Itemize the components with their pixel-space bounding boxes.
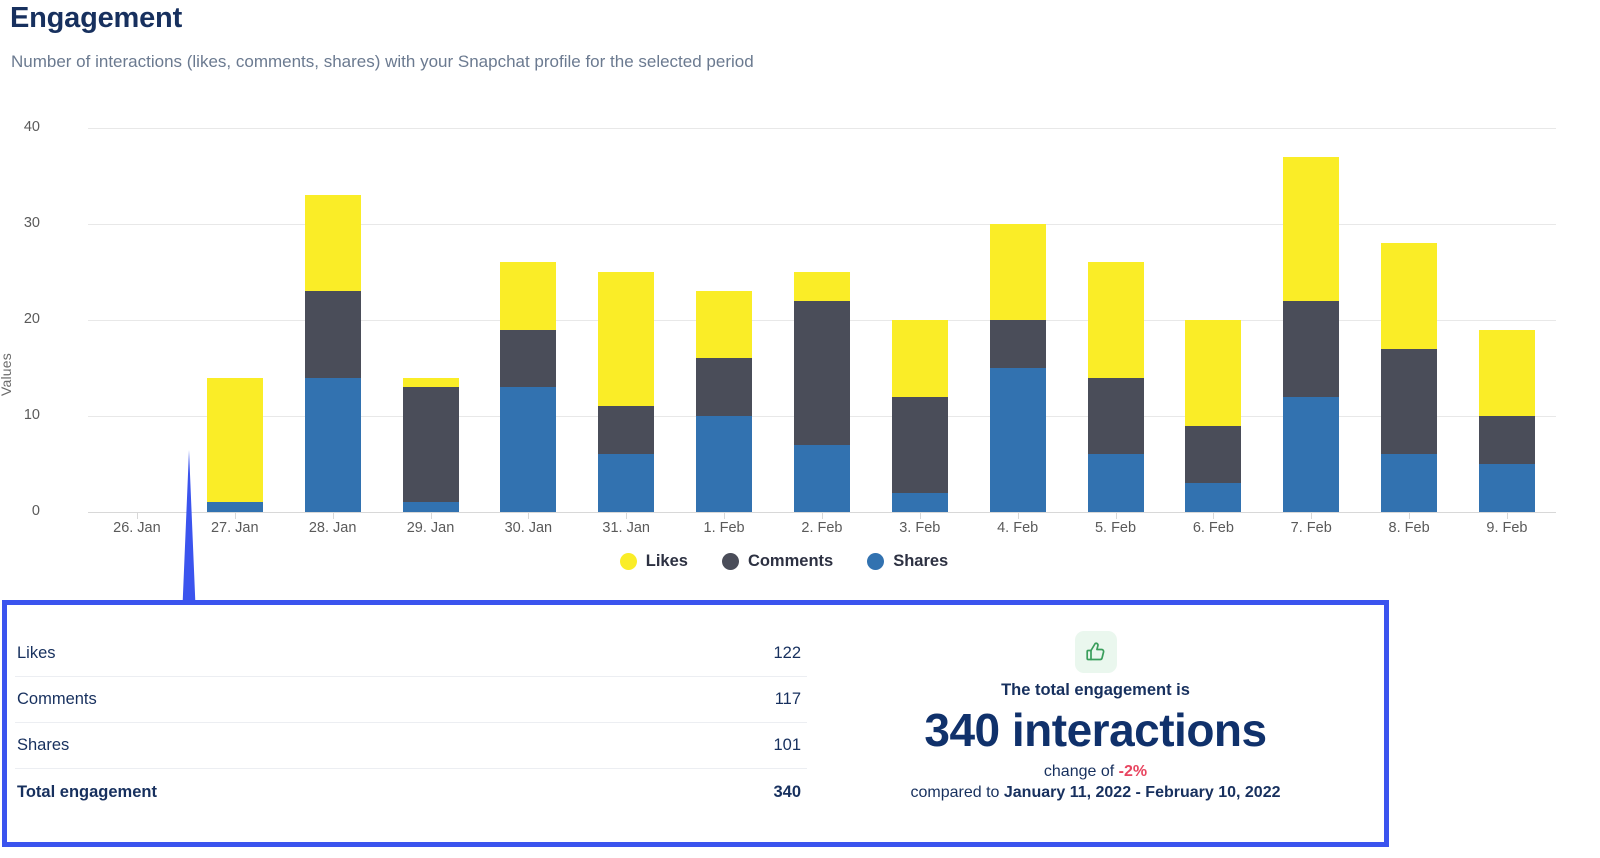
stacked-bar[interactable]	[1479, 330, 1535, 512]
compare-line: compared to January 11, 2022 - February …	[910, 784, 1280, 802]
y-axis-title: Values	[0, 353, 14, 396]
stacked-bar[interactable]	[990, 224, 1046, 512]
x-axis-tickmark	[1409, 512, 1410, 519]
chart-bar-slot[interactable]: 4. Feb	[969, 128, 1067, 512]
change-prefix: change of	[1044, 763, 1119, 780]
bar-segment-shares[interactable]	[1185, 483, 1241, 512]
bar-segment-likes[interactable]	[207, 378, 263, 503]
y-axis-tick: 0	[0, 503, 40, 519]
bar-segment-comments[interactable]	[1381, 349, 1437, 455]
total-engagement-value: 340 interactions	[924, 704, 1266, 757]
chart-bar-slot[interactable]: 28. Jan	[284, 128, 382, 512]
total-engagement-caption: The total engagement is	[1001, 681, 1190, 700]
chart-bars: 26. Jan27. Jan28. Jan29. Jan30. Jan31. J…	[88, 128, 1556, 512]
bar-segment-shares[interactable]	[1283, 397, 1339, 512]
x-axis-tickmark	[1116, 512, 1117, 519]
x-axis-tickmark	[137, 512, 138, 519]
stacked-bar[interactable]	[403, 378, 459, 512]
x-axis-tickmark	[235, 512, 236, 519]
compare-prefix: compared to	[910, 784, 1003, 801]
chart-bar-slot[interactable]: 3. Feb	[871, 128, 969, 512]
legend-label: Comments	[748, 552, 833, 571]
compare-range: January 11, 2022 - February 10, 2022	[1004, 784, 1281, 801]
x-axis-tickmark	[528, 512, 529, 519]
summary-row-label: Total engagement	[17, 783, 157, 802]
stacked-bar[interactable]	[598, 272, 654, 512]
chart-bar-slot[interactable]: 8. Feb	[1360, 128, 1458, 512]
legend-item-shares[interactable]: Shares	[867, 552, 948, 571]
x-axis-tickmark	[1213, 512, 1214, 519]
bar-segment-likes[interactable]	[1185, 320, 1241, 426]
legend-label: Likes	[646, 552, 688, 571]
bar-segment-comments[interactable]	[500, 330, 556, 388]
bar-segment-likes[interactable]	[305, 195, 361, 291]
stacked-bar[interactable]	[1381, 243, 1437, 512]
legend-item-likes[interactable]: Likes	[620, 552, 688, 571]
bar-segment-shares[interactable]	[892, 493, 948, 512]
summary-row-value: 340	[773, 783, 801, 802]
chart-bar-slot[interactable]: 29. Jan	[382, 128, 480, 512]
bar-segment-comments[interactable]	[1088, 378, 1144, 455]
summary-row-value: 117	[775, 690, 801, 709]
bar-segment-likes[interactable]	[598, 272, 654, 406]
bar-segment-shares[interactable]	[1479, 464, 1535, 512]
chart-bar-slot[interactable]: 27. Jan	[186, 128, 284, 512]
thumbs-up-icon	[1075, 631, 1117, 673]
engagement-chart: Values 010203040 26. Jan27. Jan28. Jan29…	[0, 100, 1600, 590]
legend-swatch-icon	[620, 553, 637, 570]
bar-segment-comments[interactable]	[794, 301, 850, 445]
chart-bar-slot[interactable]: 5. Feb	[1067, 128, 1165, 512]
x-axis-tickmark	[333, 512, 334, 519]
bar-segment-likes[interactable]	[990, 224, 1046, 320]
summary-row-label: Shares	[17, 736, 69, 755]
summary-row: Shares101	[15, 723, 807, 769]
bar-segment-comments[interactable]	[598, 406, 654, 454]
bar-segment-comments[interactable]	[1283, 301, 1339, 397]
bar-segment-likes[interactable]	[1283, 157, 1339, 301]
stacked-bar[interactable]	[500, 262, 556, 512]
x-axis-tickmark	[1311, 512, 1312, 519]
bar-segment-likes[interactable]	[794, 272, 850, 301]
chart-bar-slot[interactable]: 26. Jan	[88, 128, 186, 512]
bar-segment-comments[interactable]	[892, 397, 948, 493]
stacked-bar[interactable]	[1088, 262, 1144, 512]
y-axis-tick: 30	[0, 215, 40, 231]
summary-row: Comments117	[15, 677, 807, 723]
page-subtitle: Number of interactions (likes, comments,…	[11, 52, 754, 72]
chart-legend: LikesCommentsShares	[0, 552, 1568, 571]
bar-segment-shares[interactable]	[1088, 454, 1144, 512]
stacked-bar[interactable]	[207, 378, 263, 512]
bar-segment-likes[interactable]	[1088, 262, 1144, 377]
legend-swatch-icon	[722, 553, 739, 570]
summary-row-value: 122	[773, 644, 801, 663]
chart-bar-slot[interactable]: 9. Feb	[1458, 128, 1556, 512]
bar-segment-likes[interactable]	[696, 291, 752, 358]
change-line: change of -2%	[1044, 763, 1147, 781]
summary-row-value: 101	[773, 736, 801, 755]
engagement-breakdown-table: Likes122Comments117Shares101Total engage…	[7, 605, 807, 842]
x-axis-tickmark	[1018, 512, 1019, 519]
chart-bar-slot[interactable]: 2. Feb	[773, 128, 871, 512]
bar-segment-comments[interactable]	[696, 358, 752, 416]
bar-segment-shares[interactable]	[500, 387, 556, 512]
summary-row-label: Likes	[17, 644, 56, 663]
stacked-bar[interactable]	[305, 195, 361, 512]
bar-segment-comments[interactable]	[1185, 426, 1241, 484]
chart-bar-slot[interactable]: 30. Jan	[479, 128, 577, 512]
legend-swatch-icon	[867, 553, 884, 570]
bar-segment-shares[interactable]	[794, 445, 850, 512]
bar-segment-shares[interactable]	[1381, 454, 1437, 512]
bar-segment-likes[interactable]	[1381, 243, 1437, 349]
legend-item-comments[interactable]: Comments	[722, 552, 833, 571]
chart-bar-slot[interactable]: 7. Feb	[1262, 128, 1360, 512]
y-axis-tick: 10	[0, 407, 40, 423]
summary-panel: Likes122Comments117Shares101Total engage…	[2, 600, 1389, 847]
x-axis-tickmark	[626, 512, 627, 519]
engagement-report-page: Engagement Number of interactions (likes…	[0, 0, 1600, 858]
bar-segment-shares[interactable]	[696, 416, 752, 512]
x-axis-tickmark	[724, 512, 725, 519]
y-axis-tick: 40	[0, 119, 40, 135]
stacked-bar[interactable]	[794, 272, 850, 512]
stacked-bar[interactable]	[1185, 320, 1241, 512]
change-value: -2%	[1119, 763, 1147, 780]
bar-segment-likes[interactable]	[1479, 330, 1535, 416]
bar-segment-comments[interactable]	[403, 387, 459, 502]
chart-bar-slot[interactable]: 31. Jan	[577, 128, 675, 512]
chart-bar-slot[interactable]: 1. Feb	[675, 128, 773, 512]
bar-segment-shares[interactable]	[207, 502, 263, 512]
x-axis-tickmark	[920, 512, 921, 519]
chart-bar-slot[interactable]: 6. Feb	[1164, 128, 1262, 512]
chart-plot-area: 010203040 26. Jan27. Jan28. Jan29. Jan30…	[88, 128, 1556, 512]
bar-segment-shares[interactable]	[990, 368, 1046, 512]
bar-segment-comments[interactable]	[1479, 416, 1535, 464]
stacked-bar[interactable]	[892, 320, 948, 512]
bar-segment-likes[interactable]	[500, 262, 556, 329]
stacked-bar[interactable]	[1283, 157, 1339, 512]
legend-label: Shares	[893, 552, 948, 571]
y-axis-tick: 20	[0, 311, 40, 327]
bar-segment-comments[interactable]	[305, 291, 361, 377]
x-axis-tickmark	[431, 512, 432, 519]
x-axis-tick: 9. Feb	[1447, 520, 1567, 536]
bar-segment-shares[interactable]	[403, 502, 459, 512]
bar-segment-comments[interactable]	[990, 320, 1046, 368]
bar-segment-shares[interactable]	[305, 378, 361, 512]
x-axis-tickmark	[822, 512, 823, 519]
page-title: Engagement	[10, 2, 182, 35]
summary-row: Total engagement340	[15, 769, 807, 815]
bar-segment-shares[interactable]	[598, 454, 654, 512]
bar-segment-likes[interactable]	[892, 320, 948, 397]
bar-segment-likes[interactable]	[403, 378, 459, 388]
stacked-bar[interactable]	[696, 291, 752, 512]
total-engagement-summary: The total engagement is 340 interactions…	[807, 605, 1384, 842]
summary-row: Likes122	[15, 631, 807, 677]
x-axis-tickmark	[1507, 512, 1508, 519]
summary-row-label: Comments	[17, 690, 97, 709]
